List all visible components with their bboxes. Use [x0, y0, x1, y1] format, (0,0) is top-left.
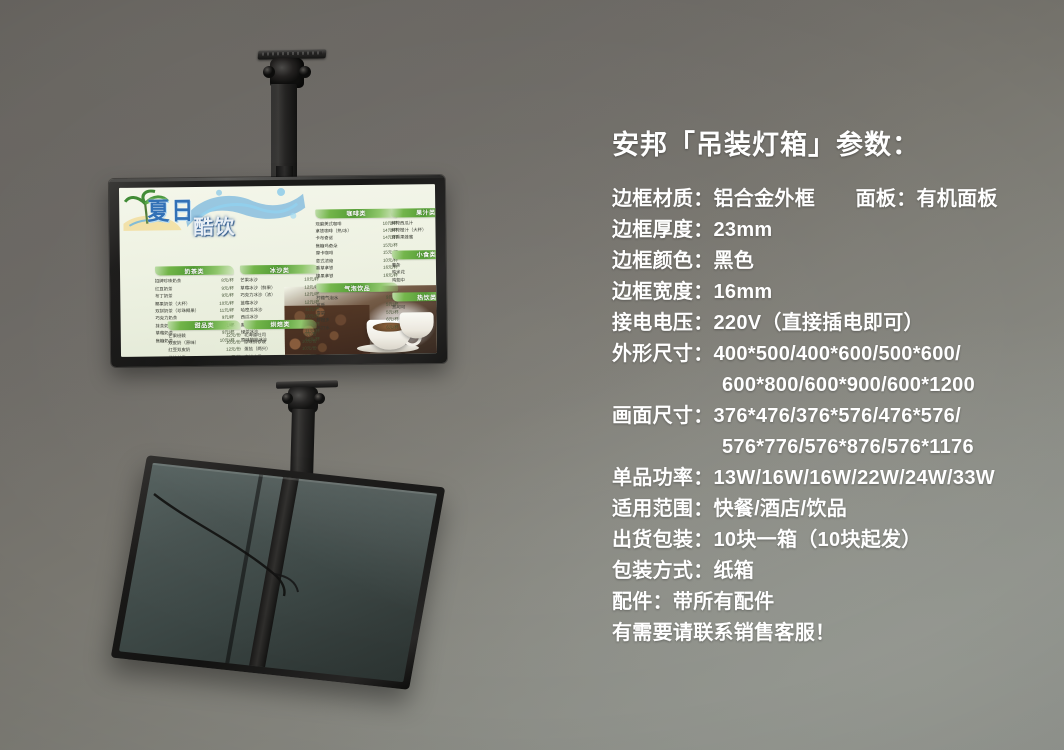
spec-line: 单品功率：13W/16W/16W/22W/24W/33W — [612, 463, 1052, 494]
menu-item-row: 鸡翅中12元/份 — [392, 275, 437, 283]
menu-section-heading: 烘焙类 — [244, 319, 317, 329]
menu-item-name: 雪碧 — [316, 309, 325, 317]
menu-item-name: 哈密瓜冰沙 — [241, 306, 263, 314]
spec-line: 600*800/600*900/600*1200 — [612, 370, 1052, 401]
menu-section: 烘焙类北海道吐司8元/份原味铜锣烧10元/份蛋挞（两只）10元/份肉松小贝12元… — [244, 319, 317, 357]
menu-section-heading-label: 果汁类 — [416, 208, 436, 217]
spec-line: 适用范围：快餐/酒店/饮品 — [612, 494, 1052, 525]
spec-line-list: 边框材质：铝合金外框 面板：有机面板边框厚度：23mm边框颜色：黑色边框宽度：1… — [612, 184, 1052, 649]
menu-item-name: 热可可 — [392, 304, 405, 312]
menu-section-heading: 奶茶类 — [155, 266, 234, 276]
menu-section-heading: 热饮类 — [392, 292, 437, 302]
top-swivel-knob-right — [299, 66, 311, 78]
menu-section-heading: 气泡饮品 — [316, 283, 398, 293]
menu-item-name: 柠檬气泡水 — [316, 294, 338, 302]
menu-section-heading: 甜品类 — [168, 320, 241, 330]
menu-section-heading-label: 烘焙类 — [270, 319, 290, 328]
menu-section-heading: 果汁类 — [391, 207, 437, 217]
menu-section-heading-label: 甜品类 — [195, 320, 215, 329]
menu-item-name: 榛果拿铁 — [316, 272, 334, 280]
spec-line: 接电电压：220V（直接插电即可） — [612, 308, 1052, 339]
hanging-lightbox-rear — [111, 455, 446, 690]
menu-item-name: 红豆双皮奶 — [168, 346, 190, 354]
menu-section-heading: 小食类 — [392, 250, 438, 260]
menu-section-heading: 冰沙类 — [240, 265, 319, 275]
menu-section: 小食类薯条8元/份鸡米花10元/份鸡翅中12元/份 — [392, 250, 438, 284]
spec-line: 包装方式：纸箱 — [612, 556, 1052, 587]
menu-item-row: 百香果蜂蜜11元/杯 — [391, 233, 437, 241]
spec-line: 出货包装：10块一箱（10块起发） — [612, 525, 1052, 556]
spec-line: 外形尺寸：400*500/400*600/500*600/ — [612, 339, 1052, 370]
spec-line: 边框厚度：23mm — [612, 215, 1052, 246]
spec-title: 安邦「吊装灯箱」参数： — [612, 128, 1052, 162]
menu-item-price: 6元/杯 — [383, 323, 399, 331]
menu-item-name: 百香果蜂蜜 — [391, 234, 413, 242]
spec-line: 边框颜色：黑色 — [612, 246, 1052, 277]
frame-top-highlight — [109, 175, 445, 182]
spec-line: 有需要请联系销售客服！ — [612, 618, 1052, 649]
mid-swivel-knob-left — [282, 393, 293, 404]
menu-item-row: 苏打水6元/杯 — [317, 323, 399, 331]
menu-section-heading-label: 奶茶类 — [184, 266, 204, 275]
menu-section: 甜品类芒果班戟12元/份双皮奶（原味）10元/份红豆双皮奶12元/份杨枝甘露14… — [168, 320, 241, 357]
menu-section: 咖啡类现磨美式咖啡10元/杯拿铁咖啡（热/冰）14元/杯卡布奇诺14元/杯焦糖玛… — [315, 208, 398, 279]
menu-section: 热饮类热可可10元/杯 — [392, 292, 437, 311]
menu-section-heading-label: 咖啡类 — [346, 209, 366, 218]
spec-line: 576*776/576*876/576*1176 — [612, 432, 1052, 463]
menu-item-name: 拿铁咖啡（热/冰） — [315, 227, 351, 235]
spec-text-panel: 安邦「吊装灯箱」参数： 边框材质：铝合金外框 面板：有机面板边框厚度：23mm边… — [612, 128, 1052, 649]
top-swivel-knob-left — [263, 66, 275, 78]
menu-item-row: 榛果拿铁16元/杯 — [316, 271, 398, 279]
menu-item-name: 苏打水 — [317, 324, 330, 332]
spec-line: 边框宽度：16mm — [612, 277, 1052, 308]
mid-swivel-knob-right — [314, 393, 325, 404]
spec-line: 配件：带所有配件 — [612, 587, 1052, 618]
menu-section-heading-label: 小食类 — [416, 250, 436, 259]
menu-section-heading-label: 冰沙类 — [270, 265, 290, 274]
menu-item-name: 可乐 — [316, 302, 325, 310]
menu-section: 气泡饮品柠檬气泡水9元/杯可乐5元/杯雪碧5元/杯鲜橙多6元/杯苏打水6元/杯 — [316, 283, 399, 332]
menu-item-name: 焦糖玛奇朵 — [316, 242, 338, 250]
hanging-lightbox-front: 夏日 酷饮 奶茶类招牌珍珠奶茶8元/杯红豆奶茶9元/杯布丁奶茶9元/杯椰果奶茶（… — [109, 175, 447, 367]
menu-section-heading-label: 气泡饮品 — [344, 283, 370, 292]
menu-item-name: 薯条 — [392, 261, 401, 269]
menu-sections-grid: 奶茶类招牌珍珠奶茶8元/杯红豆奶茶9元/杯布丁奶茶9元/杯椰果奶茶（大杯）10元… — [119, 184, 437, 357]
spec-line: 画面尺寸：376*476/376*576/476*576/ — [612, 401, 1052, 432]
menu-panel-face: 夏日 酷饮 奶茶类招牌珍珠奶茶8元/杯红豆奶茶9元/杯布丁奶茶9元/杯椰果奶茶（… — [119, 184, 437, 357]
product-spec-image: 夏日 酷饮 奶茶类招牌珍珠奶茶8元/杯红豆奶茶9元/杯布丁奶茶9元/杯椰果奶茶（… — [0, 0, 1064, 750]
menu-item-row: 热可可10元/杯 — [392, 303, 437, 311]
menu-section-heading-label: 热饮类 — [417, 292, 437, 301]
menu-section-heading: 咖啡类 — [315, 208, 397, 218]
menu-section: 果汁类鲜榨西瓜汁10元/杯鲜榨橙汁（大杯）12元/杯百香果蜂蜜11元/杯 — [391, 207, 437, 241]
spec-line: 边框材质：铝合金外框 面板：有机面板 — [612, 184, 1052, 215]
